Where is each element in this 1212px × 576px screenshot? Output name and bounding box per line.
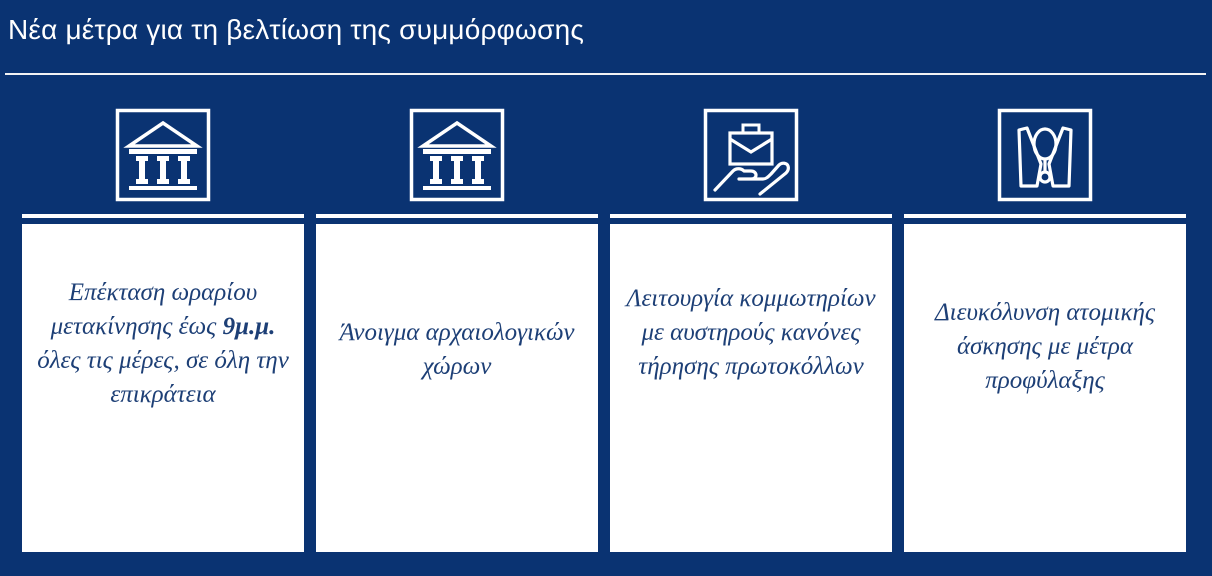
measure-card-1[interactable]: Επέκταση ωραρίου μετακίνησης έως 9μ.μ. ό… xyxy=(22,96,304,552)
card-body: Διευκόλυνση ατομικής άσκησης με μέτρα πρ… xyxy=(904,224,1186,552)
title-divider xyxy=(5,73,1206,75)
card-text: Διευκόλυνση ατομικής άσκησης με μέτρα πρ… xyxy=(918,296,1172,398)
measures-card-row: Επέκταση ωραρίου μετακίνησης έως 9μ.μ. ό… xyxy=(0,96,1212,556)
card-accent-rule xyxy=(316,214,598,218)
card-text: Επέκταση ωραρίου μετακίνησης έως 9μ.μ. ό… xyxy=(36,276,290,412)
card-body: Άνοιγμα αρχαιολογικών χώρων xyxy=(316,224,598,552)
card-text: Λειτουργία κομμωτηρίων με αυστηρούς κανό… xyxy=(624,282,878,384)
classical-building-icon xyxy=(316,96,598,214)
measure-card-2[interactable]: Άνοιγμα αρχαιολογικών χώρων xyxy=(316,96,598,552)
measure-card-3[interactable]: Λειτουργία κομμωτηρίων με αυστηρούς κανό… xyxy=(610,96,892,552)
card-accent-rule xyxy=(904,214,1186,218)
person-arms-raised-icon xyxy=(904,96,1186,214)
measure-card-4[interactable]: Διευκόλυνση ατομικής άσκησης με μέτρα πρ… xyxy=(904,96,1186,552)
card-text: Άνοιγμα αρχαιολογικών χώρων xyxy=(330,316,584,384)
card-accent-rule xyxy=(610,214,892,218)
card-accent-rule xyxy=(22,214,304,218)
card-body: Λειτουργία κομμωτηρίων με αυστηρούς κανό… xyxy=(610,224,892,552)
page-title: Νέα μέτρα για τη βελτίωση της συμμόρφωση… xyxy=(8,13,584,47)
card-text-part: όλες τις μέρες, σε όλη την επικράτεια xyxy=(37,347,289,408)
card-body: Επέκταση ωραρίου μετακίνησης έως 9μ.μ. ό… xyxy=(22,224,304,552)
card-text-emphasis: 9μ.μ. xyxy=(223,313,276,340)
classical-building-icon xyxy=(22,96,304,214)
briefcase-in-hand-icon xyxy=(610,96,892,214)
slide-header: Νέα μέτρα για τη βελτίωση της συμμόρφωση… xyxy=(0,0,1212,80)
